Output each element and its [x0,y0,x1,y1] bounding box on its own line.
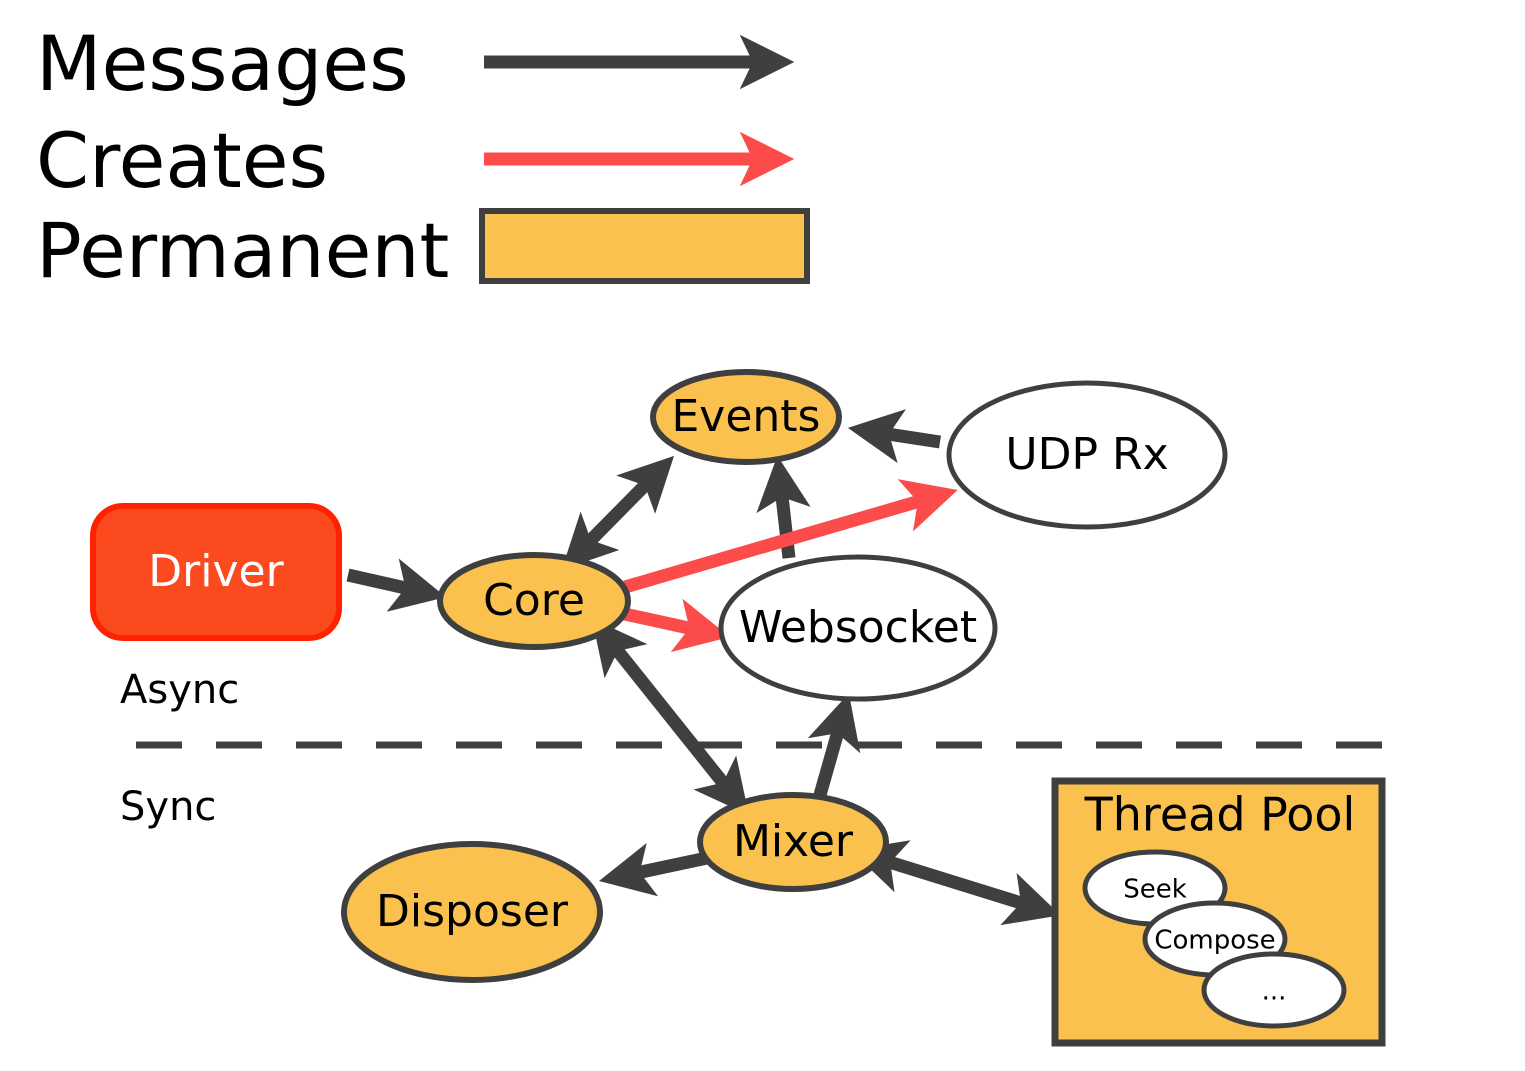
zone-label-async: Async [120,667,239,713]
task-seek-label: Seek [1123,875,1187,905]
legend: Messages Creates Permanent [36,19,807,295]
architecture-diagram: Messages Creates Permanent Async Sync [0,0,1525,1071]
thread-pool-task-more[interactable]: ... [1204,954,1344,1026]
edge-driver-to-core [348,575,432,594]
zone-label-sync: Sync [120,784,216,830]
node-driver[interactable]: Driver [93,506,339,638]
node-disposer[interactable]: Disposer [344,844,600,980]
diagram-canvas: Messages Creates Permanent Async Sync [0,0,1525,1071]
task-more-label: ... [1262,977,1287,1007]
node-thread-pool-title: Thread Pool [1084,788,1356,842]
edge-core-mixer-bidirectional [617,650,740,804]
node-websocket[interactable]: Websocket [721,557,995,699]
legend-label-creates: Creates [36,116,328,205]
node-events-label: Events [672,391,821,442]
node-thread-pool[interactable]: Thread Pool Seek Compose ... [1055,781,1382,1043]
node-driver-label: Driver [148,546,284,597]
edge-mixer-threadpool-bidirectional [889,862,1047,911]
edge-mixer-to-websocket [818,707,845,802]
edge-core-creates-websocket [620,613,716,634]
node-websocket-label: Websocket [739,602,977,653]
node-mixer-label: Mixer [733,816,854,867]
legend-item-creates: Creates [36,116,780,205]
edge-core-events-bidirectional [590,466,664,541]
legend-label-messages: Messages [36,19,409,108]
legend-item-messages: Messages [36,19,780,108]
legend-label-permanent: Permanent [36,206,449,295]
node-events[interactable]: Events [653,372,839,462]
edge-udprx-to-events [862,430,940,442]
node-udp-rx[interactable]: UDP Rx [949,383,1225,527]
node-core[interactable]: Core [440,555,628,647]
node-mixer[interactable]: Mixer [700,795,886,889]
edge-mixer-to-disposer [613,858,707,878]
legend-swatch-permanent [482,211,807,281]
node-core-label: Core [483,575,585,626]
task-compose-label: Compose [1154,926,1275,956]
node-disposer-label: Disposer [376,886,569,937]
legend-item-permanent: Permanent [36,206,807,295]
node-udp-rx-label: UDP Rx [1005,429,1168,480]
